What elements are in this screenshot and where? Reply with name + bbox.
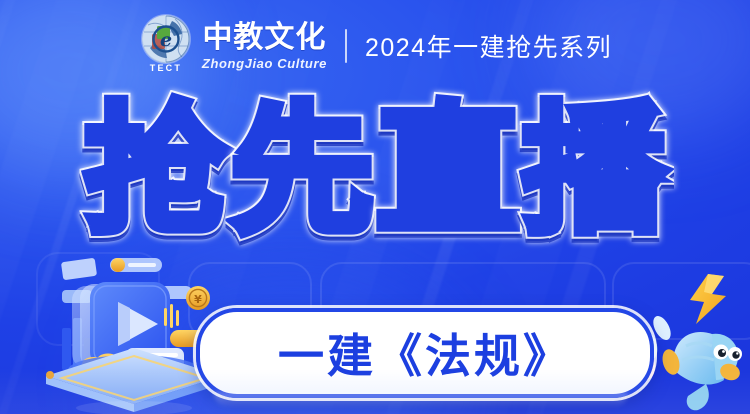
brand-name-en: ZhongJiao Culture (202, 57, 327, 70)
svg-text:e: e (160, 29, 172, 51)
title-char: 抢 (85, 102, 228, 242)
banner-header: e TECT 中教文化 ZhongJiao Culture 2024年一建抢先系… (0, 10, 750, 82)
banner-root: e TECT 中教文化 ZhongJiao Culture 2024年一建抢先系… (0, 0, 750, 414)
series-label: 2024年一建抢先系列 (365, 28, 612, 64)
brand-name-cn: 中教文化 (202, 23, 326, 53)
megaphone-character-icon (660, 332, 742, 410)
subtitle-text: 一建《法规》 (278, 320, 572, 386)
title-char: 播 (523, 102, 666, 242)
main-title: 抢 先 直 播 (0, 88, 750, 256)
title-char: 直 (377, 102, 520, 242)
subtitle-pill: 一建《法规》 (196, 308, 654, 398)
logo-sub-label: TECT (150, 64, 182, 73)
brand-logo: e TECT 中教文化 ZhongJiao Culture (138, 15, 327, 77)
brand-name-block: 中教文化 ZhongJiao Culture (202, 23, 327, 70)
logo-mark: e TECT (138, 15, 194, 77)
title-char: 先 (231, 102, 374, 242)
lightning-bolt-icon (690, 274, 726, 324)
globe-e-logo-icon: e (142, 15, 190, 63)
header-divider (345, 29, 347, 63)
gold-coin-icon: ¥ (186, 286, 210, 310)
svg-text:¥: ¥ (194, 293, 202, 306)
